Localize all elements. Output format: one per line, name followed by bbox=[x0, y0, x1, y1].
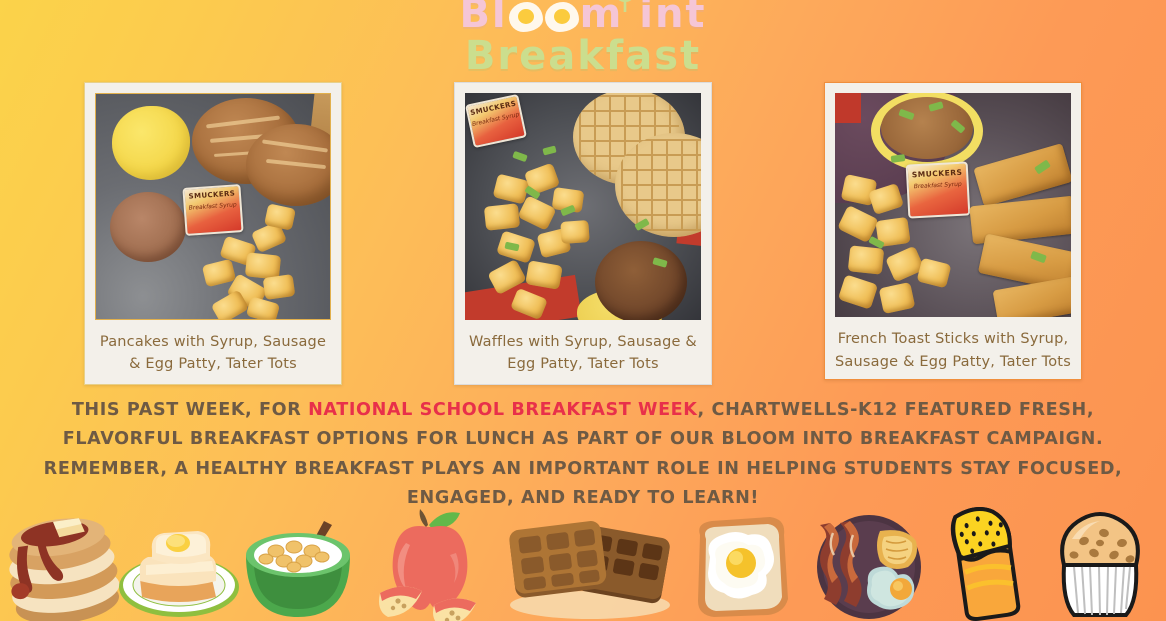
page-title: Bl m int Breakfast bbox=[0, 0, 1166, 75]
sausage-patty-shape bbox=[110, 192, 186, 262]
chocolate-chip-muffin-icon bbox=[1038, 505, 1160, 621]
red-corner bbox=[835, 93, 861, 123]
body-paragraph: This past week, for National School Brea… bbox=[0, 396, 1166, 513]
apple-slices-icon bbox=[366, 507, 492, 621]
syrup-packet-script: Breakfast Syrup bbox=[909, 180, 967, 190]
tater-tot bbox=[263, 274, 296, 300]
egg-flower-icon-2 bbox=[545, 2, 579, 32]
tater-tot bbox=[848, 245, 885, 274]
syrup-packet-script: Breakfast Syrup bbox=[186, 201, 240, 212]
title-line-breakfast: Breakfast bbox=[0, 38, 1166, 75]
card-caption: Waffles with Syrup, Sausage & Egg Patty,… bbox=[465, 320, 701, 376]
title-text-after-egg: m int bbox=[580, 0, 707, 37]
syrup-packet-brand: SMUCKERS bbox=[908, 168, 966, 180]
fried-egg-toast-icon bbox=[684, 513, 798, 621]
syrup-packet: SMUCKERS Breakfast Syrup bbox=[182, 184, 243, 236]
tater-tot bbox=[484, 203, 520, 230]
egg-patty-shape bbox=[112, 106, 190, 180]
toast-plate-icon bbox=[116, 521, 242, 621]
menu-card-waffles[interactable]: SMUCKERS Breakfast Syrup Waffles wit bbox=[454, 82, 712, 385]
title-text-before-egg: Bl bbox=[459, 0, 507, 37]
paragraph-segment-1: This past week, for bbox=[72, 400, 308, 420]
menu-cards-row: SMUCKERS Breakfast Syrup Pancakes with S… bbox=[0, 82, 1166, 385]
title-line-bloom-into: Bl m int bbox=[0, 0, 1166, 33]
syrup-packet-brand: SMUCKERS bbox=[185, 189, 239, 201]
breakfast-plate-icon bbox=[806, 513, 932, 621]
card-caption: Pancakes with Syrup, Sausage & Egg Patty… bbox=[95, 320, 331, 376]
waffle-shape-2 bbox=[615, 133, 701, 237]
menu-card-french-toast[interactable]: SMUCKERS Breakfast Syrup French Toas bbox=[824, 82, 1082, 380]
sausage-patty-shape bbox=[595, 241, 687, 320]
pancakes-tray-photo: SMUCKERS Breakfast Syrup bbox=[95, 93, 331, 320]
paragraph-highlight: National School Breakfast Week bbox=[308, 400, 697, 420]
syrup-packet: SMUCKERS Breakfast Syrup bbox=[906, 161, 971, 218]
card-caption: French Toast Sticks with Syrup, Sausage … bbox=[835, 317, 1071, 373]
egg-flower-icon bbox=[509, 2, 543, 32]
cereal-bowl-icon bbox=[236, 513, 360, 621]
corn-muffin-icon bbox=[938, 505, 1038, 621]
pancake-stack-icon bbox=[2, 511, 124, 621]
sprout-icon bbox=[612, 0, 638, 12]
tater-tot bbox=[560, 220, 589, 244]
menu-card-pancakes[interactable]: SMUCKERS Breakfast Syrup Pancakes with S… bbox=[84, 82, 342, 385]
paragraph-line-2: Remember, a healthy breakfast plays an i… bbox=[18, 455, 1148, 513]
egg-yolk-shape bbox=[518, 9, 534, 24]
waffles-tray-photo: SMUCKERS Breakfast Syrup bbox=[465, 93, 701, 320]
waffles-icon bbox=[502, 511, 674, 621]
egg-yolk-shape-2 bbox=[554, 9, 570, 24]
french-toast-sticks-tray-photo: SMUCKERS Breakfast Syrup bbox=[835, 93, 1071, 317]
bottom-food-icon-strip bbox=[0, 503, 1166, 621]
